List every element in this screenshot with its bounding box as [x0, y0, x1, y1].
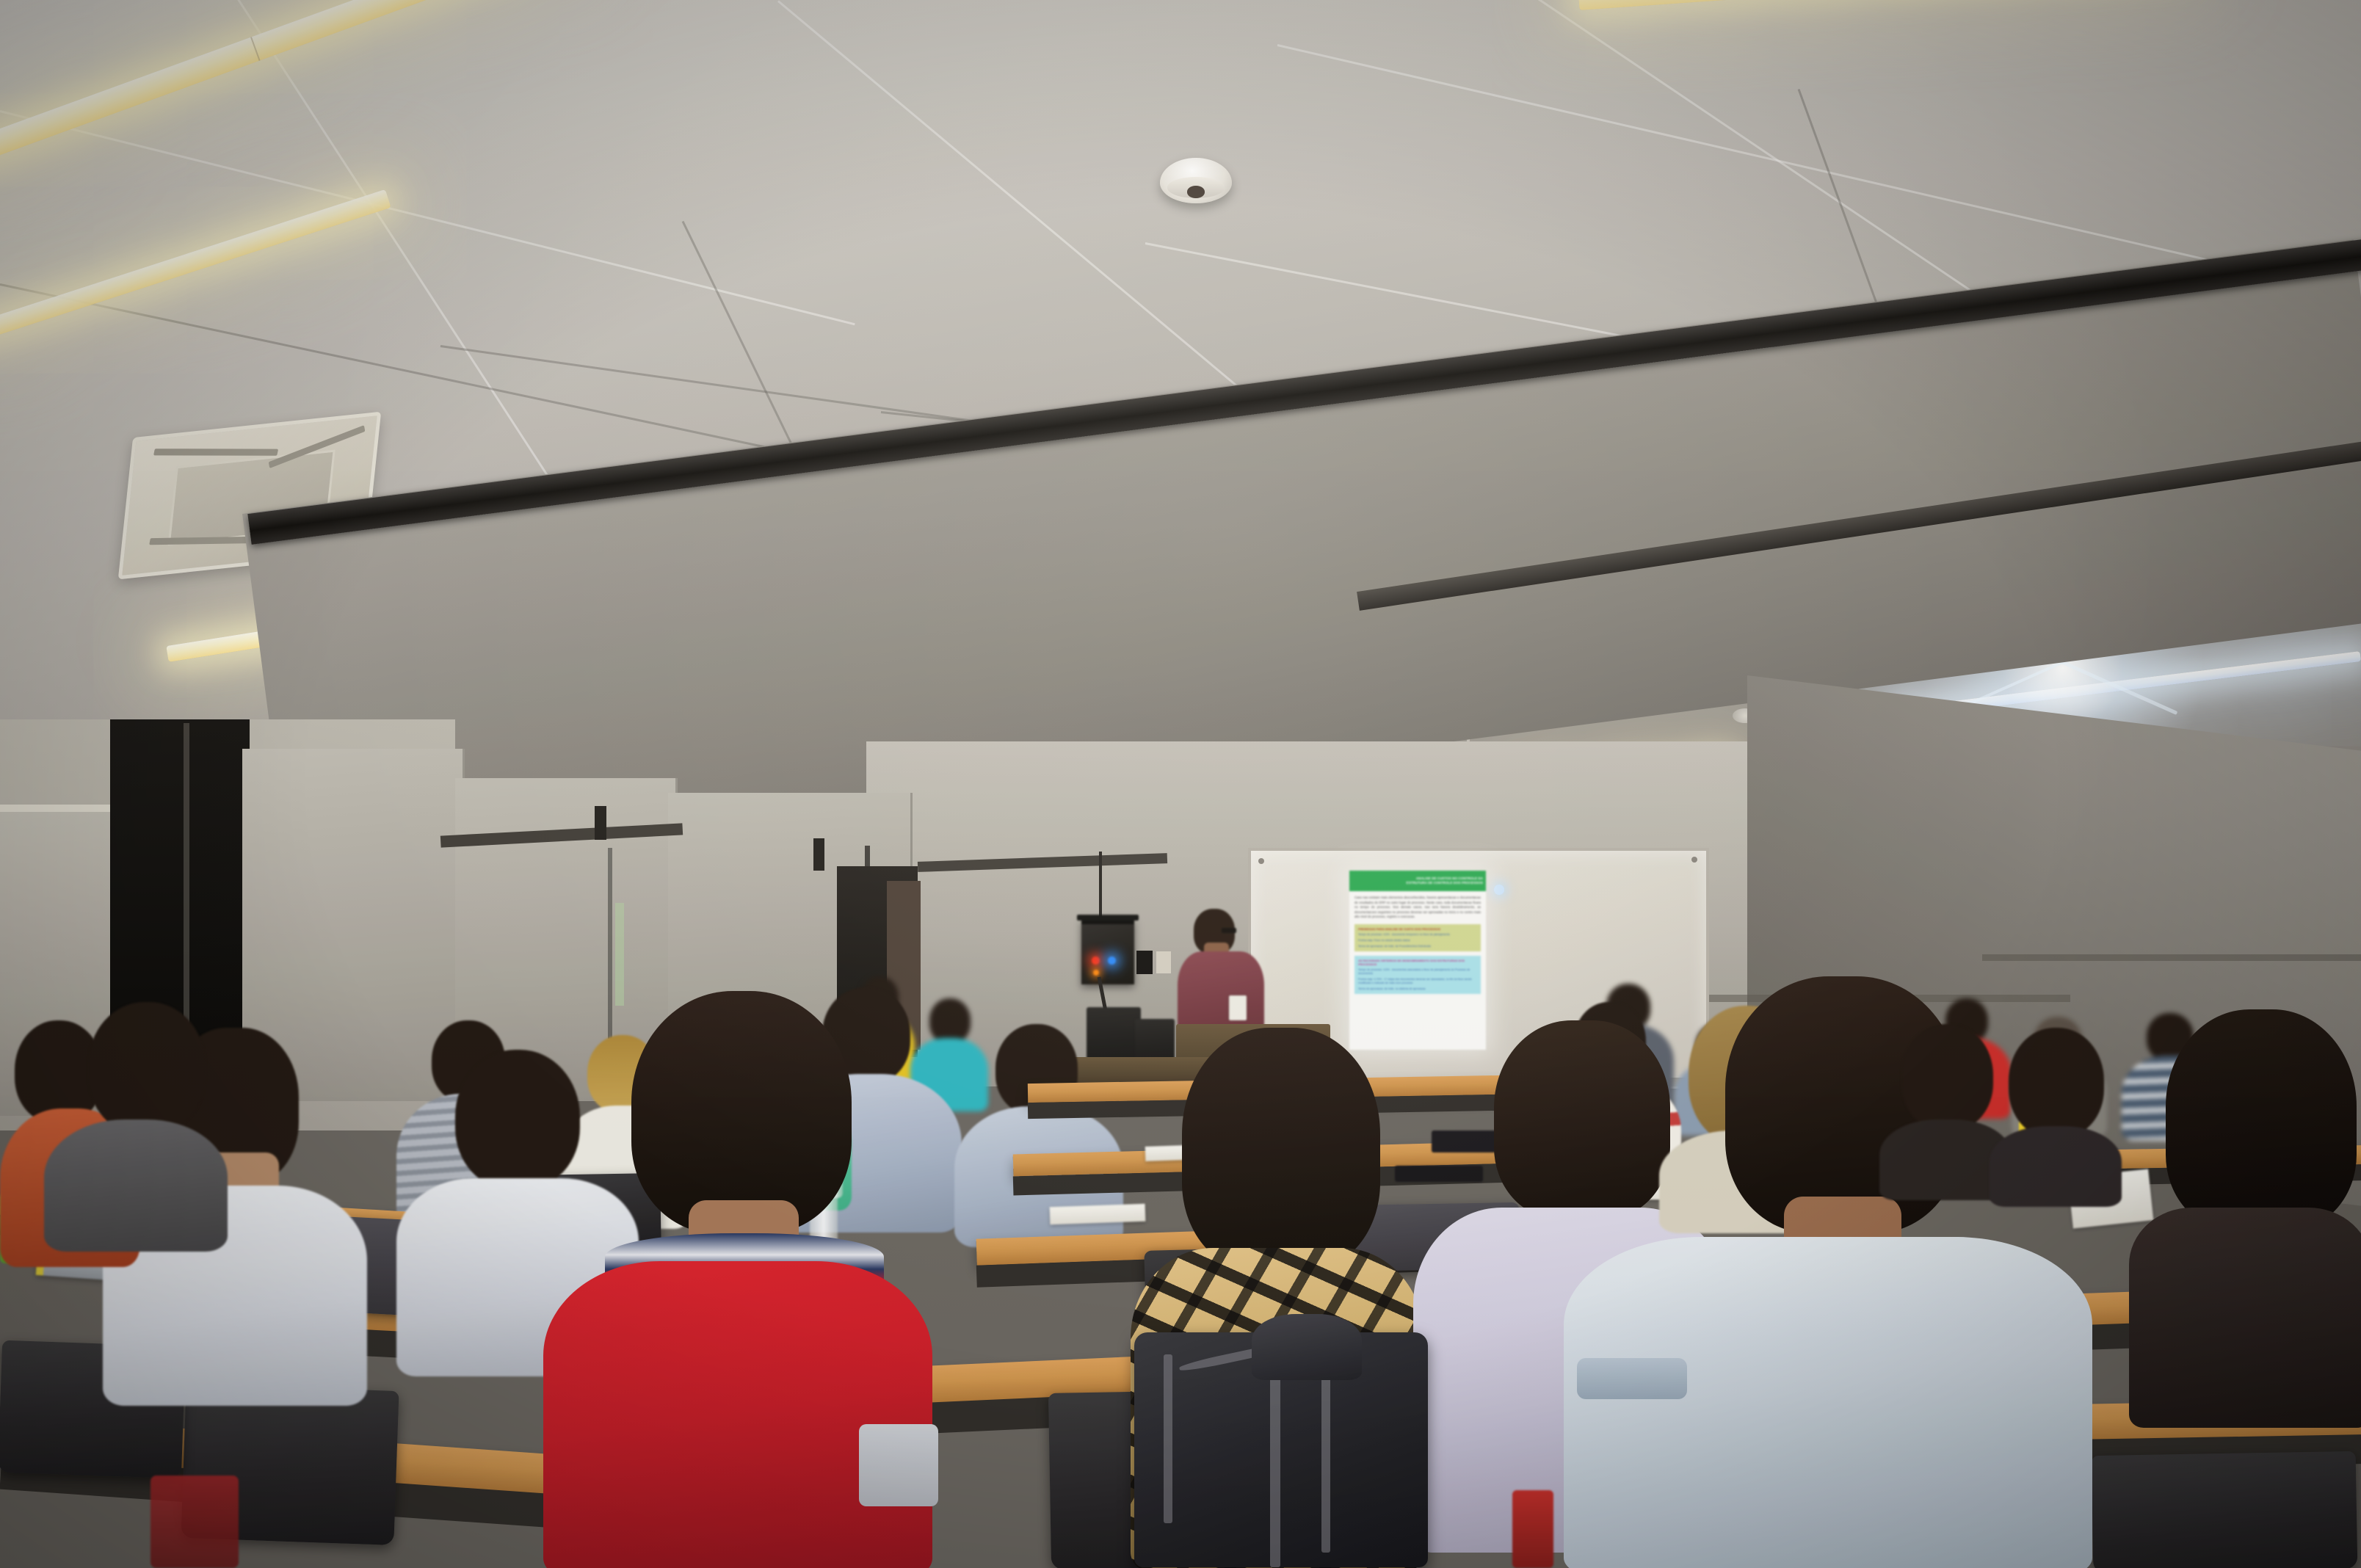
attendee-front-red-polo [543, 991, 932, 1568]
led-red-icon [1092, 957, 1100, 965]
tee-sleeve-cuff [1577, 1358, 1687, 1399]
wall-rail [1982, 954, 2361, 961]
doorway [110, 719, 250, 1050]
av-cable [1099, 852, 1102, 922]
chair [2092, 1451, 2358, 1568]
slide-block-cyan-item: Tempo de processo: 4,5% - documentos ass… [1358, 968, 1477, 976]
partition-bracket [595, 806, 606, 840]
av-control-box [1081, 919, 1134, 984]
polo-sleeve-cuff [859, 1424, 938, 1506]
smoke-detector-icon [1160, 158, 1232, 203]
led-amber-icon [1093, 970, 1099, 976]
slide-body: Caso nao existam mais elementos desconhe… [1349, 891, 1486, 994]
slide-block-cyan-item: Termo de aprovacao: de Indic. no sistema… [1358, 987, 1477, 991]
slide-block-cyan-item: Pontos-wap: 4,70% - 17 etapa dos documen… [1358, 978, 1477, 985]
slide-block-olive-item: Termo de aprovacao: de Indic. de Procedi… [1358, 945, 1477, 948]
slide-header-title: ANALISE DE CUSTOS NO CONTROLE DA ESTRUTU… [1397, 876, 1483, 885]
attendee-right-small-2 [1990, 1028, 2122, 1197]
slide-block-cyan-title: AS RACIONAIS CRITERIOS DE DESDOBRAMENTO … [1358, 959, 1477, 966]
wall-plate [1156, 951, 1171, 973]
red-object [150, 1476, 239, 1568]
classroom-scene: ANALISE DE CUSTOS NO CONTROLE DA ESTRUTU… [0, 0, 2361, 1568]
wall-outlet [1136, 951, 1153, 974]
door-frame [184, 723, 189, 1039]
wall-highlight [1494, 885, 1504, 895]
partition-bracket [813, 838, 824, 871]
window-sliver [615, 903, 624, 1006]
glasses-icon [1222, 928, 1236, 933]
slide-block-cyan: AS RACIONAIS CRITERIOS DE DESDOBRAMENTO … [1354, 956, 1481, 994]
slide-block-olive-item: Pontos-wap: Fluxo no estudo destes dados [1358, 939, 1477, 943]
backpack-top [1252, 1314, 1362, 1380]
slide-block-olive: PREMISSAS PARA ANALISE DE CUSTO DOS PROC… [1354, 924, 1481, 951]
name-badge [1229, 995, 1247, 1020]
attendee-dark-hair-right [2129, 1009, 2361, 1420]
slide-block-olive-title: PREMISSAS PARA ANALISE DE CUSTO DOS PROC… [1358, 927, 1477, 931]
slide-paragraph: Caso nao existam mais elementos desconhe… [1354, 896, 1481, 920]
slide-header: ANALISE DE CUSTOS NO CONTROLE DA ESTRUTU… [1349, 871, 1486, 891]
attendee-grey-shirt-left [37, 1002, 235, 1244]
led-blue-icon [1108, 957, 1116, 965]
red-object [1512, 1490, 1553, 1568]
slide-block-olive-item: Tempo de processo: 4,5% - documento temp… [1358, 933, 1477, 937]
